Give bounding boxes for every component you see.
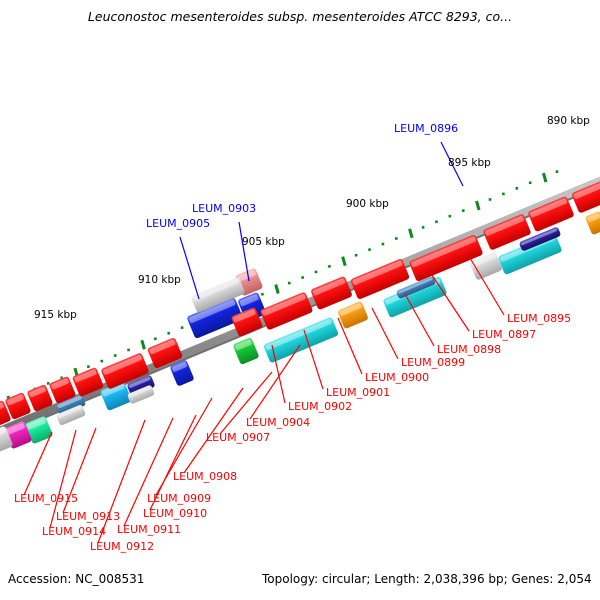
leader-line-red: [430, 272, 469, 331]
gene-label-leum_0907[interactable]: LEUM_0907: [206, 431, 270, 444]
scale-label: 915 kbp: [34, 309, 77, 321]
scale-label: 895 kbp: [448, 157, 491, 169]
scale-minor-tick: [127, 349, 130, 352]
map-canvas[interactable]: LEUM_0896LEUM_0903LEUM_0905LEUM_0895LEUM…: [0, 40, 600, 560]
gene-label-leum_0908[interactable]: LEUM_0908: [173, 470, 237, 483]
gene-label-leum_0905[interactable]: LEUM_0905: [146, 217, 210, 230]
title-bar: Leuconostoc mesenteroides subsp. mesente…: [0, 0, 600, 40]
gene-orange-right[interactable]: [585, 211, 600, 236]
scale-minor-tick: [101, 360, 104, 363]
gene-label-leum_0910[interactable]: LEUM_0910: [143, 507, 207, 520]
gene-label-leum_0903[interactable]: LEUM_0903: [192, 202, 256, 215]
accession-text: Accession: NC_008531: [8, 572, 144, 586]
scale-minor-tick: [395, 237, 398, 240]
scale-minor-tick: [556, 170, 559, 173]
gene-label-leum_0914[interactable]: LEUM_0914: [42, 525, 106, 538]
scale-minor-tick: [328, 265, 331, 268]
leader-line-layer: [24, 142, 504, 543]
gene-label-leum_0897[interactable]: LEUM_0897: [472, 328, 536, 341]
gene-label-leum_0901[interactable]: LEUM_0901: [326, 386, 390, 399]
scale-major-tick: [410, 229, 413, 238]
scale-major-tick: [142, 340, 145, 349]
gene-label-leum_0911[interactable]: LEUM_0911: [117, 523, 181, 536]
gene-label-leum_0909[interactable]: LEUM_0909: [147, 492, 211, 505]
gene-label-leum_0915[interactable]: LEUM_0915: [14, 492, 78, 505]
gene-0900[interactable]: [260, 291, 314, 330]
gene-label-leum_0902[interactable]: LEUM_0902: [288, 400, 352, 413]
scale-major-tick: [477, 201, 480, 210]
gene-label-leum_0913[interactable]: LEUM_0913: [56, 510, 120, 523]
scale-minor-tick: [422, 226, 425, 229]
leader-line-blue: [239, 222, 249, 281]
scale-label: 905 kbp: [242, 236, 285, 248]
gene-label-leum_0898[interactable]: LEUM_0898: [437, 343, 501, 356]
scale-minor-tick: [382, 243, 385, 246]
scale-minor-tick: [47, 382, 50, 385]
scale-label: 890 kbp: [547, 115, 590, 127]
scale-minor-tick: [114, 354, 117, 357]
status-bar: Accession: NC_008531 Topology: circular;…: [0, 560, 600, 600]
scale-minor-tick: [462, 209, 465, 212]
scale-label: 910 kbp: [138, 274, 181, 286]
scale-minor-tick: [502, 193, 505, 196]
scale-minor-tick: [167, 332, 170, 335]
scale-minor-tick: [288, 282, 291, 285]
scale-major-tick: [276, 285, 279, 294]
gene-label-leum_0899[interactable]: LEUM_0899: [401, 356, 465, 369]
scale-minor-tick: [368, 248, 371, 251]
gene-0899[interactable]: [310, 276, 353, 311]
scale-minor-tick: [261, 293, 264, 296]
scale-minor-tick: [315, 271, 318, 274]
genome-map-graphic[interactable]: LEUM_0896LEUM_0903LEUM_0905LEUM_0895LEUM…: [0, 40, 600, 560]
scale-minor-tick: [515, 187, 518, 190]
scale-minor-tick: [355, 254, 358, 257]
leader-line-blue: [180, 237, 199, 299]
gene-label-leum_0912[interactable]: LEUM_0912: [90, 540, 154, 553]
sequence-meta-text: Topology: circular; Length: 2,038,396 bp…: [262, 572, 592, 586]
scale-minor-tick: [181, 326, 184, 329]
gene-label-leum_0896[interactable]: LEUM_0896: [394, 122, 458, 135]
scale-minor-tick: [87, 365, 90, 368]
scale-minor-tick: [529, 181, 532, 184]
genome-map-viewer: Leuconostoc mesenteroides subsp. mesente…: [0, 0, 600, 600]
gene-orange-0899[interactable]: [337, 301, 369, 329]
gene-green-0904[interactable]: [233, 337, 260, 365]
scale-minor-tick: [301, 276, 304, 279]
gene-label-leum_0904[interactable]: LEUM_0904: [246, 416, 310, 429]
scale-major-tick: [343, 257, 346, 266]
page-title: Leuconostoc mesenteroides subsp. mesente…: [0, 9, 600, 24]
scale-label: 900 kbp: [346, 198, 389, 210]
gene-label-leum_0895[interactable]: LEUM_0895: [507, 312, 571, 325]
scale-minor-tick: [154, 338, 157, 341]
scale-minor-tick: [449, 215, 452, 218]
scale-minor-tick: [435, 220, 438, 223]
scale-minor-tick: [489, 198, 492, 201]
scale-major-tick: [543, 173, 546, 182]
gene-label-leum_0900[interactable]: LEUM_0900: [365, 371, 429, 384]
